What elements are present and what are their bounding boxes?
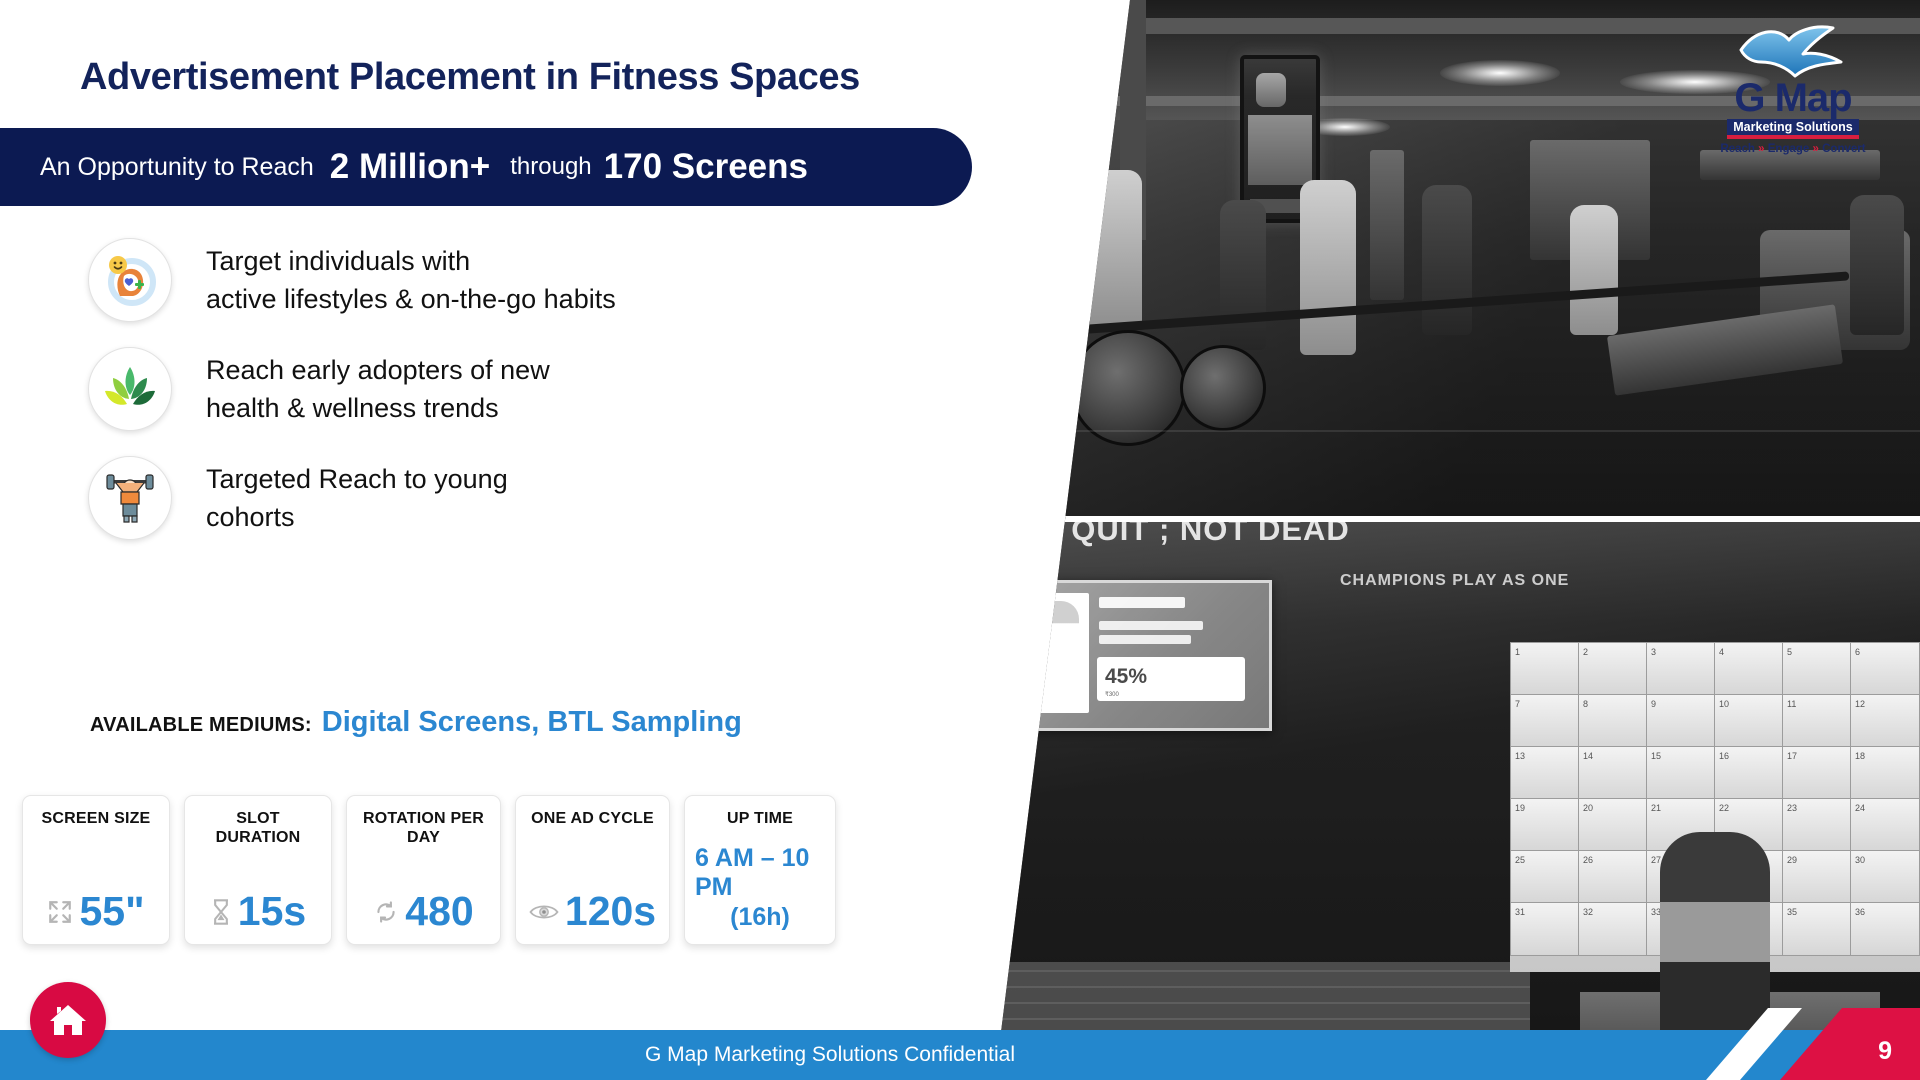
bullet-3-line-1: Targeted Reach to young <box>206 460 508 498</box>
list-item: Reach early adopters of new health & wel… <box>88 347 848 431</box>
opportunity-banner: An Opportunity to Reach 2 Million+ throu… <box>0 128 972 206</box>
bird-icon <box>1737 22 1849 84</box>
stat-value: 15s <box>238 891 306 932</box>
ad-price-value: ₹300 <box>1105 691 1119 698</box>
bullet-3-line-2: cohorts <box>206 498 508 536</box>
list-item-text: Reach early adopters of new health & wel… <box>206 351 550 428</box>
ad-discount-value: 45% <box>1105 665 1147 689</box>
bullet-1-line-2: active lifestyles & on-the-go habits <box>206 280 616 318</box>
list-item-text: Targeted Reach to young cohorts <box>206 460 508 537</box>
stat-value-row: 6 AM – 10 PM (16h) <box>695 844 825 932</box>
ad-discount-badge: 45% ₹300 <box>1097 657 1245 701</box>
lotus-leaf-icon <box>88 347 172 431</box>
logo-underline <box>1727 135 1859 139</box>
logo-sep-1: » <box>1758 143 1764 155</box>
benefit-list: Target individuals with active lifestyle… <box>88 238 848 565</box>
bullet-1-line-1: Target individuals with <box>206 242 616 280</box>
stat-label: SCREEN SIZE <box>42 810 151 829</box>
gym-machine <box>1370 150 1404 300</box>
home-button[interactable] <box>30 982 106 1058</box>
logo-tagline: Marketing Solutions <box>1727 119 1859 135</box>
slide-root: N'T QUIT ; NOT DEAD CHAMPIONS PLAY AS ON… <box>0 0 1920 1080</box>
weight-plate <box>1180 345 1266 431</box>
wall-ad-screen: 45% ₹300 <box>1016 580 1272 731</box>
available-mediums: AVAILABLE MEDIUMS: Digital Screens, BTL … <box>90 706 742 739</box>
stat-value-row: 55" <box>47 891 144 932</box>
wall-slogan-2: CHAMPIONS PLAY AS ONE <box>1340 572 1569 590</box>
list-item: Targeted Reach to young cohorts <box>88 456 848 540</box>
bullet-2-line-2: health & wellness trends <box>206 389 550 427</box>
stat-value: 55" <box>79 891 144 932</box>
weight-plate <box>1070 330 1186 446</box>
person <box>1090 170 1142 330</box>
stat-label: ROTATION PER DAY <box>357 810 490 848</box>
logo-claim-convert: Convert <box>1822 143 1865 155</box>
stat-label: UP TIME <box>727 810 793 829</box>
mental-wellbeing-icon <box>88 238 172 322</box>
bench <box>1607 304 1843 395</box>
stat-card-rotation-per-day[interactable]: ROTATION PER DAY 480 <box>346 795 501 945</box>
eye-icon <box>529 901 559 923</box>
page-number: 9 <box>1878 1037 1892 1066</box>
stat-label: ONE AD CYCLE <box>531 810 654 829</box>
page-title: Advertisement Placement in Fitness Space… <box>80 56 980 99</box>
person <box>1570 205 1618 335</box>
stat-card-row: SCREEN SIZE 55" SLOT DURATION <box>22 795 836 945</box>
person <box>1220 200 1266 350</box>
gym-lockers-photo: N'T QUIT ; NOT DEAD CHAMPIONS PLAY AS ON… <box>970 522 1920 1080</box>
banner-connector: through <box>510 153 591 181</box>
stat-card-one-ad-cycle[interactable]: ONE AD CYCLE 120s <box>515 795 670 945</box>
banner-screens-value: 170 Screens <box>604 147 808 187</box>
stat-value-secondary: (16h) <box>730 903 790 932</box>
banner-lead: An Opportunity to Reach <box>40 153 314 182</box>
footer-bar: G Map Marketing Solutions Confidential <box>0 1030 1920 1080</box>
logo-sep-2: » <box>1813 143 1819 155</box>
person <box>1850 195 1904 335</box>
stat-value: 120s <box>565 891 656 932</box>
stat-value-row: 480 <box>373 891 473 932</box>
person <box>1422 185 1472 335</box>
wall-slogan-1: N'T QUIT ; NOT DEAD <box>1010 512 1350 548</box>
logo-claim-reach: Reach <box>1720 143 1755 155</box>
hourglass-icon <box>210 898 232 926</box>
stat-card-screen-size[interactable]: SCREEN SIZE 55" <box>22 795 170 945</box>
list-item-text: Target individuals with active lifestyle… <box>206 242 616 319</box>
weightlifter-icon <box>88 456 172 540</box>
stat-card-up-time[interactable]: UP TIME 6 AM – 10 PM (16h) <box>684 795 836 945</box>
logo-claim-engage: Engage <box>1768 143 1810 155</box>
gmap-logo: G Map Marketing Solutions Reach » Engage… <box>1708 22 1878 172</box>
home-icon <box>48 1001 88 1039</box>
available-mediums-value: Digital Screens, BTL Sampling <box>322 706 742 739</box>
floor-line <box>970 430 1920 432</box>
available-mediums-label: AVAILABLE MEDIUMS: <box>90 714 312 737</box>
list-item: Target individuals with active lifestyle… <box>88 238 848 322</box>
person <box>1300 180 1356 355</box>
banner-reach-value: 2 Million+ <box>330 147 490 187</box>
ceiling-light <box>1440 60 1560 86</box>
stat-value-row: 15s <box>210 891 306 932</box>
bullet-2-line-1: Reach early adopters of new <box>206 351 550 389</box>
stat-value: 480 <box>405 891 473 932</box>
stat-value: 6 AM – 10 PM <box>695 844 825 902</box>
logo-claims: Reach » Engage » Convert <box>1708 143 1878 155</box>
expand-arrows-icon <box>47 899 73 925</box>
footer-text: G Map Marketing Solutions Confidential <box>0 1030 1920 1080</box>
rotate-icon <box>373 899 399 925</box>
stat-value-row: 120s <box>529 891 656 932</box>
stat-label: SLOT DURATION <box>195 810 321 848</box>
stat-card-slot-duration[interactable]: SLOT DURATION 15s <box>184 795 332 945</box>
logo-brand: G Map <box>1734 76 1851 120</box>
